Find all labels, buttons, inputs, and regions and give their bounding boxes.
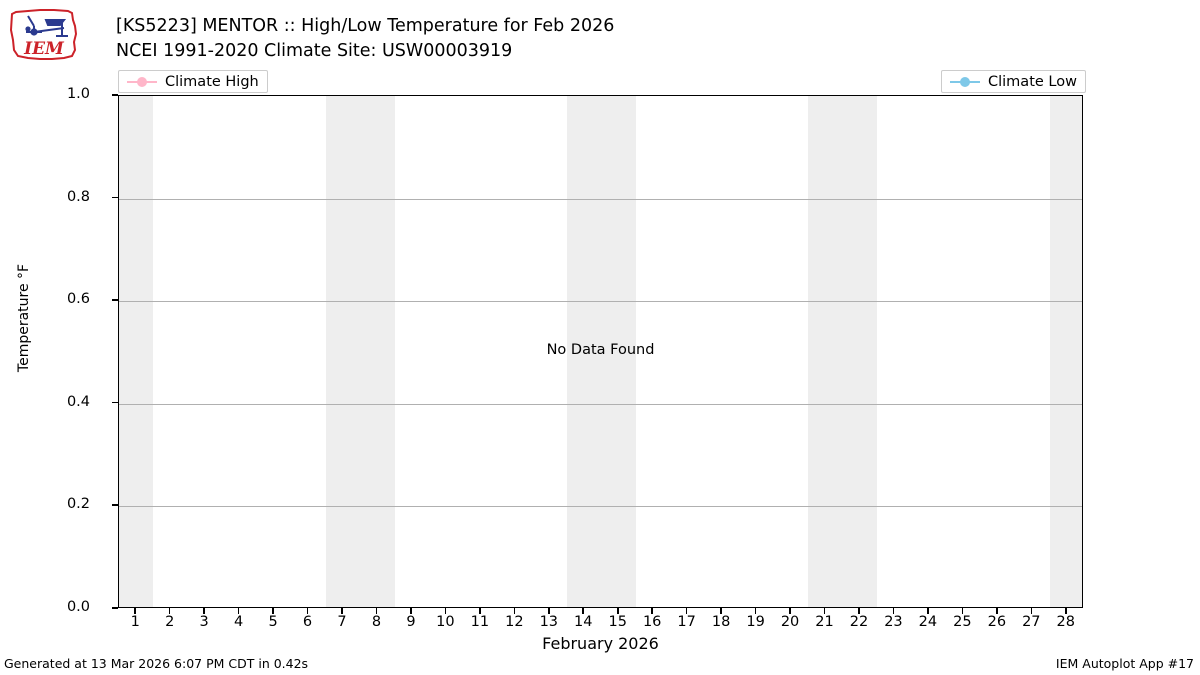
gridline — [119, 506, 1082, 507]
x-axis-tick-label: 21 — [810, 614, 840, 630]
x-axis-tick-label: 8 — [361, 614, 391, 630]
y-axis-tick-mark — [112, 197, 118, 199]
chart-title-line-1: [KS5223] MENTOR :: High/Low Temperature … — [116, 14, 614, 39]
y-axis-tick-mark — [112, 607, 118, 609]
x-axis-tick-mark — [341, 608, 343, 614]
x-axis-tick-mark — [720, 608, 722, 614]
x-axis-tick-label: 11 — [465, 614, 495, 630]
x-axis-tick-mark — [962, 608, 964, 614]
x-axis-tick-mark — [893, 608, 895, 614]
legend-label-climate-low: Climate Low — [988, 74, 1077, 90]
x-axis-tick-label: 22 — [844, 614, 874, 630]
x-axis-tick-label: 10 — [430, 614, 460, 630]
x-axis-tick-label: 19 — [741, 614, 771, 630]
x-axis-tick-mark — [169, 608, 171, 614]
chart-title-line-2: NCEI 1991-2020 Climate Site: USW00003919 — [116, 39, 614, 64]
y-axis-tick-label: 0.6 — [30, 291, 90, 307]
legend-item-climate-high[interactable]: Climate High — [118, 70, 268, 93]
x-axis-tick-label: 25 — [947, 614, 977, 630]
gridline — [119, 404, 1082, 405]
x-axis-tick-mark — [582, 608, 584, 614]
x-axis-tick-mark — [238, 608, 240, 614]
x-axis-tick-mark — [548, 608, 550, 614]
x-axis-tick-label: 16 — [637, 614, 667, 630]
y-axis-tick-mark — [112, 504, 118, 506]
y-axis-tick-mark — [112, 402, 118, 404]
y-axis-tick-label: 0.8 — [30, 189, 90, 205]
x-axis-tick-mark — [651, 608, 653, 614]
legend-marker-climate-low-icon — [950, 76, 980, 88]
x-axis-tick-label: 2 — [155, 614, 185, 630]
gridline — [119, 301, 1082, 302]
x-axis-tick-mark — [1065, 608, 1067, 614]
x-axis-tick-label: 14 — [568, 614, 598, 630]
x-axis-tick-label: 28 — [1051, 614, 1081, 630]
x-axis-tick-mark — [514, 608, 516, 614]
x-axis-tick-mark — [134, 608, 136, 614]
y-axis-tick-label: 0.2 — [30, 496, 90, 512]
app-attribution: IEM Autoplot App #17 — [1056, 656, 1194, 671]
x-axis-tick-label: 18 — [706, 614, 736, 630]
x-axis-tick-label: 12 — [499, 614, 529, 630]
iem-logo-text: IEM — [23, 39, 65, 59]
y-axis-tick-label: 0.4 — [30, 394, 90, 410]
generated-timestamp: Generated at 13 Mar 2026 6:07 PM CDT in … — [4, 656, 308, 671]
x-axis-tick-label: 3 — [189, 614, 219, 630]
x-axis-tick-mark — [203, 608, 205, 614]
x-axis-tick-mark — [445, 608, 447, 614]
legend-item-climate-low[interactable]: Climate Low — [941, 70, 1086, 93]
x-axis-tick-mark — [755, 608, 757, 614]
x-axis-tick-label: 4 — [224, 614, 254, 630]
x-axis-tick-mark — [307, 608, 309, 614]
x-axis-tick-mark — [996, 608, 998, 614]
x-axis-tick-mark — [410, 608, 412, 614]
x-axis-tick-mark — [824, 608, 826, 614]
no-data-message: No Data Found — [119, 342, 1082, 358]
y-axis-label: Temperature °F — [16, 238, 32, 398]
x-axis-tick-mark — [927, 608, 929, 614]
x-axis-tick-mark — [789, 608, 791, 614]
x-axis-tick-label: 6 — [293, 614, 323, 630]
x-axis-tick-label: 13 — [534, 614, 564, 630]
y-axis-tick-mark — [112, 94, 118, 96]
legend-marker-climate-high-icon — [127, 76, 157, 88]
x-axis-tick-mark — [617, 608, 619, 614]
iem-logo: IEM — [6, 6, 82, 64]
y-axis-tick-label: 0.0 — [30, 599, 90, 615]
x-axis-tick-label: 23 — [878, 614, 908, 630]
x-axis-tick-label: 7 — [327, 614, 357, 630]
gridline — [119, 199, 1082, 200]
x-axis-tick-mark — [858, 608, 860, 614]
x-axis-tick-mark — [1031, 608, 1033, 614]
x-axis-tick-mark — [686, 608, 688, 614]
x-axis-tick-mark — [479, 608, 481, 614]
legend-label-climate-high: Climate High — [165, 74, 259, 90]
x-axis-tick-label: 20 — [775, 614, 805, 630]
y-axis-tick-label: 1.0 — [30, 86, 90, 102]
x-axis-label: February 2026 — [118, 634, 1083, 653]
x-axis-tick-mark — [376, 608, 378, 614]
x-axis-tick-label: 9 — [396, 614, 426, 630]
x-axis-tick-mark — [272, 608, 274, 614]
x-axis-tick-label: 1 — [120, 614, 150, 630]
x-axis-tick-label: 27 — [1016, 614, 1046, 630]
x-axis-tick-label: 24 — [913, 614, 943, 630]
x-axis-tick-label: 17 — [672, 614, 702, 630]
x-axis-tick-label: 26 — [982, 614, 1012, 630]
chart-plot-area: No Data Found — [118, 95, 1083, 608]
x-axis-tick-label: 15 — [603, 614, 633, 630]
x-axis-tick-label: 5 — [258, 614, 288, 630]
page-title: [KS5223] MENTOR :: High/Low Temperature … — [116, 14, 614, 64]
y-axis-tick-mark — [112, 299, 118, 301]
